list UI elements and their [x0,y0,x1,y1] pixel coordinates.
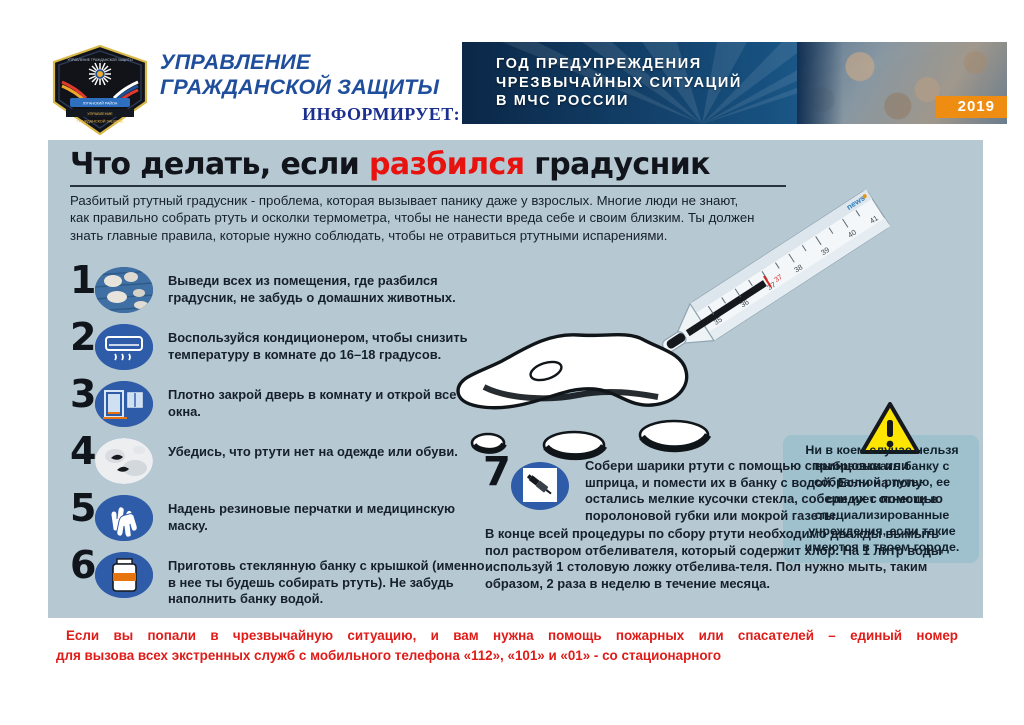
poster-panel: Что делать, если разбился градусник Разб… [48,140,983,618]
step-text: Воспользуйся кондиционером, чтобы снизит… [168,322,485,363]
step-item: 5 Надень резиновые перчатки и медицинску… [70,493,485,545]
air-conditioner-icon [95,324,153,370]
year-campaign-banner: ГОД ПРЕДУПРЕЖДЕНИЯ ЧРЕЗВЫЧАЙНЫХ СИТУАЦИЙ… [462,42,1007,124]
banner-line1: ГОД ПРЕДУПРЕЖДЕНИЯ [496,55,742,74]
title-part-before: Что делать, если [70,147,369,182]
page-header: УПРАВЛЕНИЕ ГРАЖДАНСКОЙ ЗАЩИТЫ ЛУГАН [0,0,1024,140]
step-text: Собери шарики ртути с помощью спринцовки… [585,458,963,524]
org-title-line1: УПРАВЛЕНИЕ [160,50,460,75]
org-informs-label: ИНФОРМИРУЕТ: [160,104,460,125]
svg-text:ЛУГАНСКИЙ РАЙОН: ЛУГАНСКИЙ РАЙОН [83,102,118,106]
footer-line1: Если вы попали в чрезвычайную ситуацию, … [0,626,1024,646]
svg-text:ГРАЖДАНСКОЙ ЗАЩИТЫ: ГРАЖДАНСКОЙ ЗАЩИТЫ [77,120,124,124]
footer-line2: для вызова всех экстренных служб с мобил… [0,646,1024,666]
step-number: 7 [483,452,511,492]
glass-jar-icon [95,552,153,598]
year-badge: 2019 [936,96,1007,118]
emergency-footer: Если вы попали в чрезвычайную ситуацию, … [0,626,1024,666]
step-text: Убедись, что ртути нет на одежде или обу… [168,436,485,461]
steps-list: 1 Выведи всех из п [70,265,485,613]
step-item: 4 Убедись, что ртути нет на одежде или о… [70,436,485,488]
step7-extra-text: В конце всей процедуры по сбору ртути не… [485,526,955,592]
mercury-beads-photo-icon [95,267,153,313]
syringe-icon [511,462,569,510]
step-item: 3 Плотно закрой дверь в комнату и открой… [70,379,485,431]
svg-text:УПРАВЛЕНИЕ ГРАЖДАНСКОЙ ЗАЩИТЫ: УПРАВЛЕНИЕ ГРАЖДАНСКОЙ ЗАЩИТЫ [67,58,132,62]
step-text: Выведи всех из помещения, где разбился г… [168,265,485,306]
step-text: Надень резиновые перчатки и медицинскую … [168,493,485,534]
step-text: Плотно закрой дверь в комнату и открой в… [168,379,485,420]
banner-text: ГОД ПРЕДУПРЕЖДЕНИЯ ЧРЕЗВЫЧАЙНЫХ СИТУАЦИЙ… [496,55,742,111]
mchs-civil-defense-emblem: УПРАВЛЕНИЕ ГРАЖДАНСКОЙ ЗАЩИТЫ ЛУГАН [46,44,154,136]
rubber-gloves-icon [95,495,153,541]
svg-text:УПРАВЛЕНИЕ: УПРАВЛЕНИЕ [87,112,113,116]
step-text: Приготовь стеклянную банку с крышкой (им… [168,550,485,608]
step-item-7: 7 Собери шарики ртути с помощью спринцов… [483,458,963,524]
door-window-icon [95,381,153,427]
step-item: 2 Воспользуйся кондиционером, чтобы сниз… [70,322,485,374]
organization-title: УПРАВЛЕНИЕ ГРАЖДАНСКОЙ ЗАЩИТЫ [160,50,460,100]
org-title-line2: ГРАЖДАНСКОЙ ЗАЩИТЫ [160,75,460,100]
banner-line3: В МЧС РОССИИ [496,92,742,111]
step-item: 1 Выведи всех из п [70,265,485,317]
banner-line2: ЧРЕЗВЫЧАЙНЫХ СИТУАЦИЙ [496,74,742,93]
step-item: 6 Приготовь стеклянную банку с крышкой (… [70,550,485,608]
title-highlight: разбился [369,147,524,182]
clothing-shoes-icon [95,438,153,484]
